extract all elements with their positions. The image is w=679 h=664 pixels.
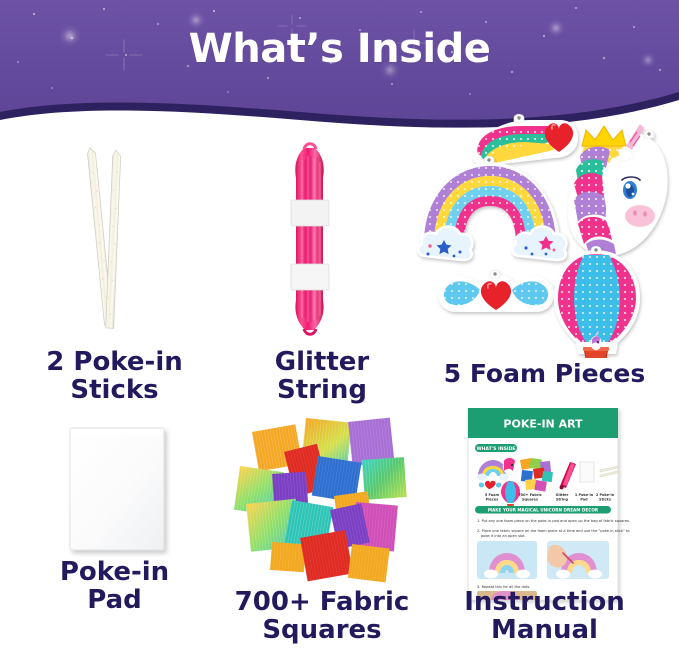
svg-text:1 Poke-in: 1 Poke-in bbox=[575, 493, 594, 497]
svg-text:WHAT'S INSIDE: WHAT'S INSIDE bbox=[476, 446, 515, 452]
instruction-sheet-icon: POKE-IN ART WHAT'S INSIDE bbox=[410, 408, 679, 608]
page-title: What’s Inside bbox=[0, 26, 679, 72]
item-label-poke-in-pad: Poke-in Pad bbox=[8, 558, 221, 614]
item-label-glitter-string: Glitter String bbox=[222, 348, 422, 404]
item-poke-in-sticks: 2 Poke-in Sticks bbox=[8, 108, 221, 408]
svg-text:POKE-IN ART: POKE-IN ART bbox=[503, 418, 583, 431]
foam-piece-winged-heart bbox=[438, 270, 554, 312]
pink-floss-skein-icon bbox=[222, 108, 422, 358]
iridescent-fabric-square-pile-icon bbox=[222, 408, 422, 608]
manual-brand-logo: POKE-IN ART bbox=[500, 415, 586, 431]
item-label-poke-in-sticks: 2 Poke-in Sticks bbox=[8, 348, 221, 404]
item-label-fabric-squares: 700+ Fabric Squares bbox=[222, 588, 422, 644]
item-glitter-string: Glitter String bbox=[222, 108, 422, 408]
item-fabric-squares: 700+ Fabric Squares bbox=[222, 408, 422, 664]
item-poke-in-pad: Poke-in Pad bbox=[8, 408, 221, 664]
svg-text:2 Poke-in: 2 Poke-in bbox=[596, 493, 615, 497]
foam-piece-hot-air-balloon bbox=[554, 246, 640, 358]
items-grid: 2 Poke-in Sticks bbox=[0, 108, 679, 664]
item-foam-pieces: 5 Foam Pieces bbox=[410, 108, 679, 408]
svg-text:Sticks: Sticks bbox=[599, 498, 611, 502]
svg-text:Pieces: Pieces bbox=[486, 498, 499, 502]
svg-text:poke it into an open slot.: poke it into an open slot. bbox=[481, 534, 526, 538]
item-label-instruction-manual: Instruction Manual bbox=[410, 588, 679, 644]
foam-piece-unicorn bbox=[568, 124, 668, 256]
item-instruction-manual: POKE-IN ART WHAT'S INSIDE bbox=[410, 408, 679, 664]
svg-text:700+ Fabric: 700+ Fabric bbox=[518, 493, 542, 497]
svg-text:Pad: Pad bbox=[580, 498, 588, 502]
svg-text:2. Place one fabric square on: 2. Place one fabric square on the foam p… bbox=[477, 529, 630, 533]
svg-text:String: String bbox=[556, 498, 569, 502]
svg-text:1. Put any one foam piece on t: 1. Put any one foam piece on the poke-in… bbox=[477, 519, 630, 523]
svg-text:Squares: Squares bbox=[522, 498, 538, 502]
foam-piece-rainbow bbox=[419, 156, 567, 260]
item-label-foam-pieces: 5 Foam Pieces bbox=[410, 360, 679, 387]
two-glitter-sticks-icon bbox=[8, 108, 221, 358]
svg-text:5 Foam: 5 Foam bbox=[485, 493, 500, 497]
five-foam-shapes-icon bbox=[410, 108, 679, 358]
svg-text:MAKE YOUR MAGICAL UNICORN DREA: MAKE YOUR MAGICAL UNICORN DREAM DECOR bbox=[488, 508, 599, 513]
svg-text:Glitter: Glitter bbox=[556, 493, 569, 497]
whats-inside-infographic: What’s Inside bbox=[0, 0, 679, 664]
